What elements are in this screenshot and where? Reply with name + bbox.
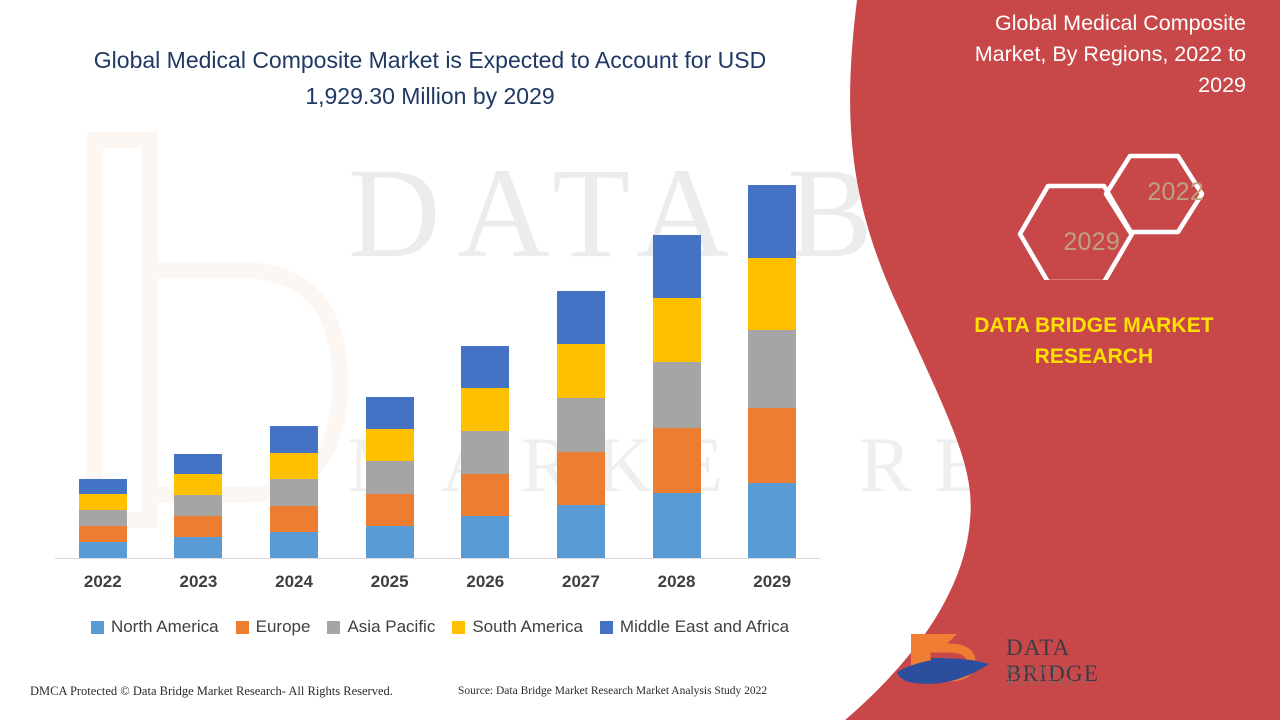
footer: DMCA Protected © Data Bridge Market Rese… (0, 684, 850, 706)
legend-item[interactable]: Middle East and Africa (600, 617, 789, 637)
bar-segment (748, 185, 796, 258)
bar-segment (653, 493, 701, 558)
legend-label: Europe (256, 617, 311, 637)
bar-segment (270, 532, 318, 558)
legend-swatch-icon (91, 621, 104, 634)
legend-swatch-icon (236, 621, 249, 634)
bar-column (342, 397, 437, 558)
bar-segment (174, 495, 222, 516)
x-axis-labels: 20222023202420252026202720282029 (55, 572, 820, 592)
bar-column (247, 426, 342, 558)
x-axis-label-2024: 2024 (247, 572, 342, 592)
page-title: Global Medical Composite Market is Expec… (70, 42, 790, 114)
x-axis-label-2029: 2029 (725, 572, 820, 592)
stacked-bar[interactable] (79, 479, 127, 558)
bar-segment (366, 461, 414, 494)
x-axis-label-2023: 2023 (151, 572, 246, 592)
bar-segment (557, 398, 605, 452)
x-axis-label-2027: 2027 (533, 572, 628, 592)
bar-segment (366, 429, 414, 461)
stacked-bar[interactable] (461, 346, 509, 558)
bar-segment (79, 542, 127, 558)
hex-badge-2029-label: 2029 (1063, 228, 1120, 257)
bar-segment (174, 537, 222, 558)
bar-segment (461, 388, 509, 431)
bar-segment (461, 474, 509, 516)
bar-segment (270, 426, 318, 453)
footer-copyright: DMCA Protected © Data Bridge Market Rese… (30, 684, 393, 699)
bar-segment (366, 397, 414, 429)
infographic-canvas: DATA BRIDGE MARKET RESEARCH Global Medic… (0, 0, 1280, 720)
bar-column (533, 291, 628, 558)
bar-segment (79, 510, 127, 526)
bar-segment (461, 346, 509, 388)
bar-segment (557, 505, 605, 558)
bar-segment (174, 516, 222, 537)
bar-segment (174, 474, 222, 495)
x-axis-label-2028: 2028 (629, 572, 724, 592)
bar-segment (748, 408, 796, 483)
bar-segment (653, 362, 701, 428)
legend-item[interactable]: North America (91, 617, 219, 637)
stacked-bar[interactable] (748, 185, 796, 558)
bar-segment (174, 454, 222, 474)
bar-segment (79, 526, 127, 542)
legend-label: South America (472, 617, 583, 637)
bar-segment (653, 235, 701, 298)
legend-swatch-icon (327, 621, 340, 634)
bar-segment (748, 330, 796, 408)
legend-item[interactable]: South America (452, 617, 583, 637)
chart-legend: North AmericaEuropeAsia PacificSouth Ame… (55, 617, 825, 637)
bar-segment (270, 479, 318, 506)
footer-source: Source: Data Bridge Market Research Mark… (458, 685, 767, 697)
bar-segment (366, 526, 414, 558)
bar-segment (557, 291, 605, 344)
legend-item[interactable]: Asia Pacific (327, 617, 435, 637)
bar-segment (557, 344, 605, 398)
x-axis-label-2026: 2026 (438, 572, 533, 592)
legend-label: North America (111, 617, 219, 637)
bar-segment (653, 298, 701, 362)
bar-segment (79, 479, 127, 494)
stacked-bar[interactable] (270, 426, 318, 558)
stacked-bar[interactable] (557, 291, 605, 558)
x-axis-label-2022: 2022 (55, 572, 150, 592)
x-axis-line (55, 558, 820, 559)
bar-column (725, 185, 820, 558)
panel-title: Global Medical Composite Market, By Regi… (946, 8, 1246, 101)
bar-chart-plot (55, 160, 820, 558)
stacked-bar[interactable] (366, 397, 414, 558)
bar-column (55, 479, 150, 558)
brand-name: DATA BRIDGE MARKET RESEARCH (944, 310, 1244, 372)
bar-segment (557, 452, 605, 505)
bar-segment (653, 428, 701, 493)
bar-column (438, 346, 533, 558)
bar-column (151, 454, 246, 558)
data-bridge-logo: DATA BRIDGE MARKET RESEARCH (893, 628, 1103, 696)
x-axis-label-2025: 2025 (342, 572, 437, 592)
bar-column (629, 235, 724, 558)
legend-item[interactable]: Europe (236, 617, 311, 637)
logo-sub-text: MARKET RESEARCH (1007, 666, 1103, 688)
hex-badge-outlines-icon (1012, 150, 1252, 280)
bar-segment (748, 258, 796, 330)
legend-swatch-icon (600, 621, 613, 634)
bar-segment (461, 431, 509, 474)
stacked-bar[interactable] (174, 454, 222, 558)
hex-badge-group: 2022 2029 (1012, 150, 1252, 280)
b-swoosh-logo-icon (893, 628, 1003, 690)
legend-label: Middle East and Africa (620, 617, 789, 637)
bar-segment (366, 494, 414, 526)
bar-segment (461, 516, 509, 558)
bar-segment (79, 494, 127, 510)
bar-segment (270, 453, 318, 479)
bar-segment (270, 506, 318, 532)
legend-swatch-icon (452, 621, 465, 634)
bar-segment (748, 483, 796, 558)
hex-badge-2022-label: 2022 (1147, 178, 1204, 207)
legend-label: Asia Pacific (347, 617, 435, 637)
stacked-bar[interactable] (653, 235, 701, 558)
